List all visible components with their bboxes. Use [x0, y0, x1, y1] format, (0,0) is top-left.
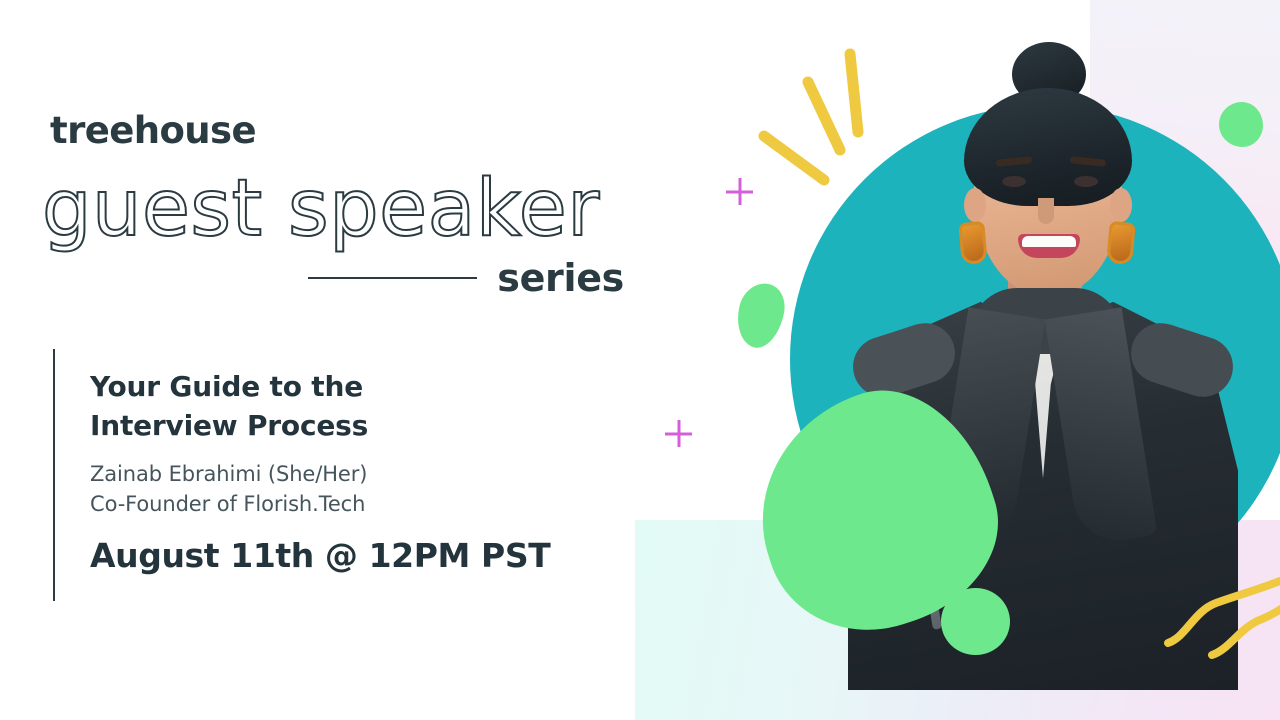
headline-guest-speaker: guest speaker — [42, 164, 600, 254]
portrait-hair — [964, 88, 1132, 206]
portrait-earring-left — [958, 221, 988, 265]
portrait-nose — [1038, 198, 1054, 224]
session-datetime: August 11th @ 12PM PST — [90, 536, 650, 575]
plus-mark-icon-top — [726, 178, 753, 205]
green-blob-small-left — [732, 279, 790, 352]
portrait-earring-right — [1106, 221, 1136, 265]
series-divider-rule — [308, 277, 477, 279]
sparkle-burst-icon — [740, 40, 920, 220]
session-info-block: Your Guide to the Interview Process Zain… — [90, 368, 650, 575]
session-title: Your Guide to the Interview Process — [90, 368, 650, 445]
wave-lines-icon — [1160, 575, 1280, 660]
portrait-ear-left — [964, 188, 986, 222]
series-label: series — [497, 256, 624, 300]
portrait-ear-right — [1110, 188, 1132, 222]
slide-canvas: treehouse guest speaker series Your Guid… — [0, 0, 1280, 720]
green-blob-bottom-circle — [941, 588, 1010, 655]
portrait-teeth — [1022, 236, 1076, 247]
plus-mark-icon-middle — [665, 420, 692, 447]
portrait-mouth — [1018, 234, 1080, 258]
speaker-name: Zainab Ebrahimi (She/Her) — [90, 460, 650, 490]
portrait-eye-right — [1074, 176, 1098, 187]
brand-wordmark: treehouse — [50, 109, 256, 152]
speaker-role: Co-Founder of Florish.Tech — [90, 490, 650, 520]
portrait-eye-left — [1002, 176, 1026, 187]
info-vertical-rule — [53, 349, 55, 601]
series-row: series — [308, 252, 624, 304]
